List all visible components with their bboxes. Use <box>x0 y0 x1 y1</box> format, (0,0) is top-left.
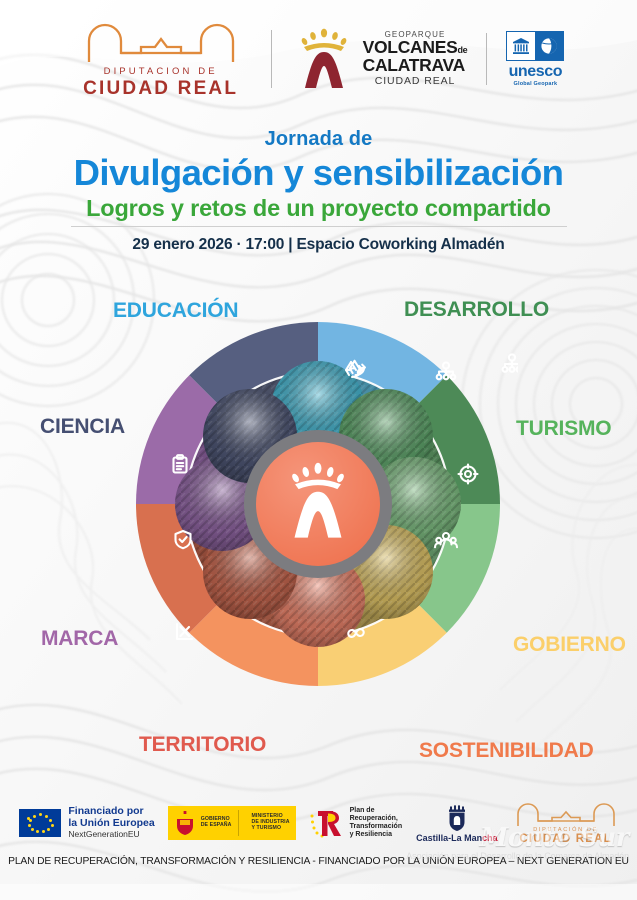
wheel-label-marca: MARCA <box>41 628 118 650</box>
geoparque-wordmark: GEOPARQUE VOLCANESde CALATRAVA CIUDAD RE… <box>363 31 468 87</box>
wheel-label-sostenibilidad: SOSTENIBILIDAD <box>419 740 594 762</box>
footer-logo-row: Financiado por la Unión Europea NextGene… <box>0 793 637 849</box>
eu-funding-text: Financiado por la Unión Europea NextGene… <box>68 806 154 840</box>
spain-coat-of-arms-icon <box>174 810 196 836</box>
footer-diputacion-logo: DIPUTACIÓN DE CIUDAD REAL <box>514 801 618 845</box>
page-title: Divulgación y sensibilización <box>0 153 637 192</box>
unesco-emblem <box>506 31 564 61</box>
unesco-wordmark: unesco <box>509 63 563 81</box>
castilla-la-mancha-castle-icon <box>445 804 469 832</box>
wheel-label-educacion: EDUCACIÓN <box>113 300 238 322</box>
ministerio-line3: Y TURISMO <box>251 826 289 832</box>
event-datetime-venue: 29 enero 2026 · 17:00 | Espacio Coworkin… <box>0 236 637 254</box>
geoparque-line3: CALATRAVA <box>363 57 468 75</box>
footer-block: Financiado por la Unión Europea NextGene… <box>0 793 637 900</box>
prtr-text: Plan de Recuperación, Transformación y R… <box>350 807 403 840</box>
geoparque-volcanes-calatrava-logo: GEOPARQUE VOLCANESde CALATRAVA CIUDAD RE… <box>294 28 565 90</box>
diputacion-line2: CIUDAD REAL <box>83 78 238 100</box>
poster-canvas: DIPUTACION DE CIUDAD REAL GEOPARQUE VOLC… <box>0 0 637 900</box>
prtr-logo: Plan de Recuperación, Transformación y R… <box>309 807 403 840</box>
title-rule <box>71 226 567 227</box>
eu-flag-icon <box>19 809 61 837</box>
prtr-line2: Recuperación, <box>350 815 403 823</box>
gobierno-espana-text: GOBIERNO DE ESPAÑA <box>201 817 232 829</box>
diputacion-ciudad-real-logo: DIPUTACION DE CIUDAD REAL <box>73 19 249 100</box>
wheel-graphic <box>118 304 518 704</box>
gobierno-line2: DE ESPAÑA <box>201 823 232 829</box>
gobierno-espana-logo: GOBIERNO DE ESPAÑA MINISTERIO DE INDUSTR… <box>168 806 296 840</box>
castilla-la-mancha-wordmark: Castilla-La Mancha <box>416 833 498 843</box>
eu-line2: la Unión Europea <box>68 818 154 830</box>
geoparque-line4: CIUDAD REAL <box>363 76 468 87</box>
wheel-label-gobierno: GOBIERNO <box>513 634 609 656</box>
wheel-label-desarrollo: DESARROLLO <box>404 299 549 321</box>
gobierno-divider <box>238 810 239 836</box>
eu-line1: Financiado por <box>68 806 154 818</box>
prtr-line1: Plan de <box>350 807 403 815</box>
title-subtitle: Logros y retos de un proyecto compartido <box>0 195 637 222</box>
greek-temple-icon <box>507 32 535 60</box>
unesco-global-geopark-logo: unesco Global Geopark <box>506 31 564 87</box>
arch-monument-icon <box>83 19 239 63</box>
eu-line3: NextGenerationEU <box>68 830 154 840</box>
strategy-wheel: EDUCACIÓN DESARROLLO TURISMO GOBIERNO SO… <box>0 296 637 796</box>
wheel-label-ciencia: CIENCIA <box>40 416 125 438</box>
unesco-subtitle: Global Geopark <box>513 81 557 87</box>
header-divider <box>271 30 272 88</box>
prtr-line4: y Resiliencia <box>350 831 403 839</box>
wheel-label-territorio: TERRITORIO <box>139 734 266 756</box>
footer-legal-line: PLAN DE RECUPERACIÓN, TRANSFORMACIÓN Y R… <box>0 856 637 867</box>
prtr-line3: Transformación <box>350 823 403 831</box>
geoparque-unesco-divider <box>486 33 487 85</box>
wheel-label-turismo: TURISMO <box>516 418 611 440</box>
castilla-la-mancha-logo: Castilla-La Mancha <box>416 804 498 843</box>
globe-icon <box>535 32 563 60</box>
diputacion-line1: DIPUTACION DE <box>104 66 218 77</box>
ministerio-text: MINISTERIO DE INDUSTRIA Y TURISMO <box>251 814 289 832</box>
arch-monument-icon <box>514 801 618 827</box>
footer-diputacion-line2: CIUDAD REAL <box>519 833 611 845</box>
prtr-logo-icon <box>309 807 345 839</box>
volcano-crown-icon <box>294 28 354 90</box>
eu-funding-logo: Financiado por la Unión Europea NextGene… <box>19 806 154 840</box>
title-block: Jornada de Divulgación y sensibilización… <box>0 128 637 254</box>
header-logos: DIPUTACION DE CIUDAD REAL GEOPARQUE VOLC… <box>0 0 637 118</box>
title-kicker: Jornada de <box>0 128 637 151</box>
